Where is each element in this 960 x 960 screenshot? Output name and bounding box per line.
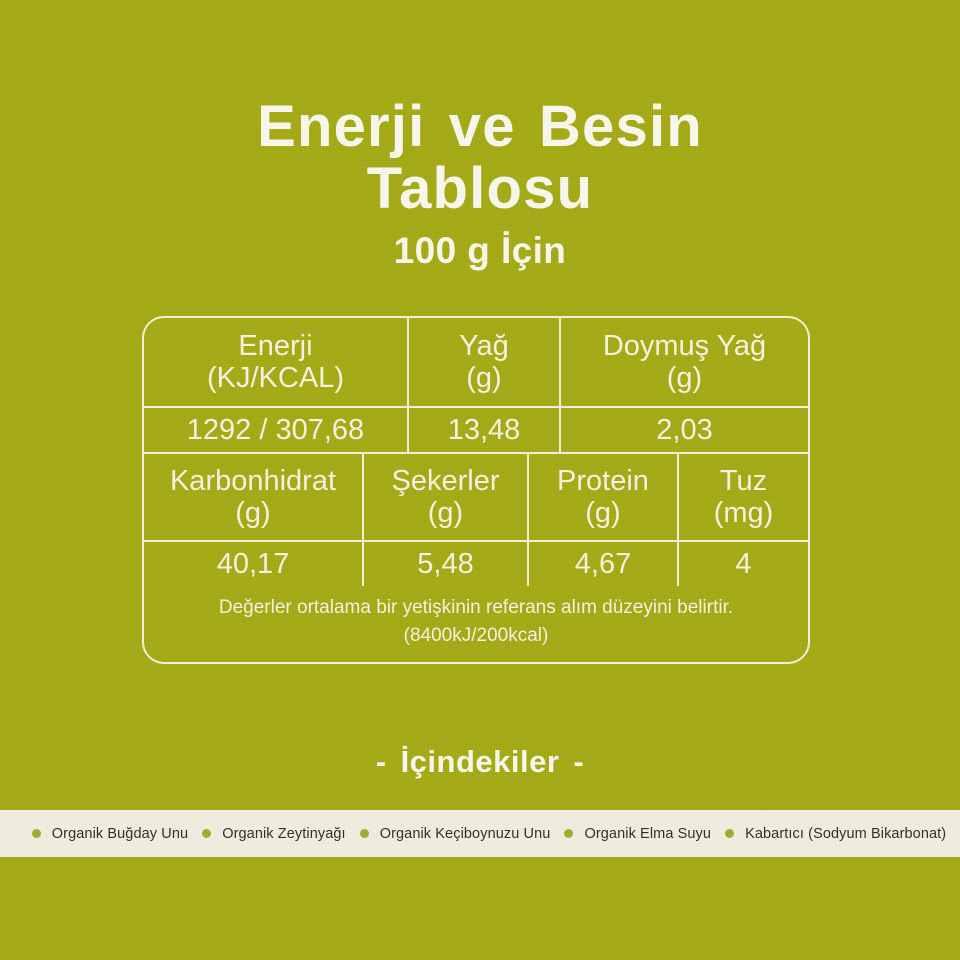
dash-right-icon: -: [559, 744, 598, 780]
title-line-2: Tablosu: [0, 158, 960, 220]
bullet-dot-icon: [564, 829, 573, 838]
header-cell-fat: Yağ (g): [407, 318, 559, 406]
serving-size-subtitle: 100 g İçin: [0, 230, 960, 272]
bullet-dot-icon: [32, 829, 41, 838]
bullet-dot-icon: [202, 829, 211, 838]
header-label: Doymuş Yağ: [603, 330, 766, 362]
value-text: 13,48: [448, 416, 521, 445]
ingredient-item: Organik Elma Suyu: [550, 826, 711, 842]
bullet-dot-icon: [725, 829, 734, 838]
header-label: Protein: [557, 465, 649, 497]
note-line-2: (8400kJ/200kcal): [404, 622, 549, 650]
ingredients-heading-label: İçindekiler: [401, 744, 560, 779]
value-cell-energy: 1292 / 307,68: [144, 408, 407, 452]
reference-intake-note: Değerler ortalama bir yetişkinin referan…: [144, 586, 808, 658]
header-unit: (g): [235, 497, 270, 529]
header-label: Şekerler: [392, 465, 500, 497]
header-label: Enerji: [238, 330, 312, 362]
bullet-dot-icon: [360, 829, 369, 838]
value-cell-fat: 13,48: [407, 408, 559, 452]
ingredient-label: Organik Keçiboynuzu Unu: [380, 826, 551, 842]
value-text: 40,17: [217, 550, 290, 579]
ingredients-heading: -İçindekiler-: [0, 744, 960, 780]
ingredient-label: Organik Zeytinyağı: [222, 826, 346, 842]
note-line-1: Değerler ortalama bir yetişkinin referan…: [219, 594, 733, 622]
table-header-row-1: Enerji (KJ/KCAL) Yağ (g) Doymuş Yağ (g): [144, 318, 808, 406]
value-cell-protein: 4,67: [527, 542, 677, 586]
header-unit: (g): [466, 362, 501, 394]
ingredients-strip: Organik Buğday Unu Organik Zeytinyağı Or…: [0, 810, 960, 857]
header-cell-carbohydrate: Karbonhidrat (g): [144, 454, 362, 540]
header-cell-saturated-fat: Doymuş Yağ (g): [559, 318, 808, 406]
table-value-row-2: 40,17 5,48 4,67 4: [144, 540, 808, 586]
header-unit: (mg): [714, 497, 774, 529]
table-value-row-1: 1292 / 307,68 13,48 2,03: [144, 406, 808, 452]
table-header-row-2: Karbonhidrat (g) Şekerler (g) Protein (g…: [144, 452, 808, 540]
value-text: 4: [735, 550, 751, 579]
value-text: 2,03: [656, 416, 712, 445]
header-cell-protein: Protein (g): [527, 454, 677, 540]
value-text: 1292 / 307,68: [187, 416, 364, 445]
ingredient-item: Organik Keçiboynuzu Unu: [346, 826, 551, 842]
ingredient-item: Organik Buğday Unu: [14, 826, 188, 842]
header-cell-sugars: Şekerler (g): [362, 454, 527, 540]
value-cell-salt: 4: [677, 542, 808, 586]
header-unit: (g): [585, 497, 620, 529]
header-unit: (g): [428, 497, 463, 529]
header-label: Tuz: [720, 465, 767, 497]
header-cell-energy: Enerji (KJ/KCAL): [144, 318, 407, 406]
ingredient-label: Kabartıcı (Sodyum Bikarbonat): [745, 826, 946, 842]
header-unit: (g): [667, 362, 702, 394]
dash-left-icon: -: [362, 744, 401, 780]
value-cell-carbohydrate: 40,17: [144, 542, 362, 586]
ingredient-item: Kabartıcı (Sodyum Bikarbonat): [711, 826, 946, 842]
value-cell-saturated-fat: 2,03: [559, 408, 808, 452]
header-cell-salt: Tuz (mg): [677, 454, 808, 540]
header-unit: (KJ/KCAL): [207, 362, 344, 394]
nutrition-table: Enerji (KJ/KCAL) Yağ (g) Doymuş Yağ (g) …: [142, 316, 810, 664]
ingredient-label: Organik Elma Suyu: [584, 826, 711, 842]
header-label: Karbonhidrat: [170, 465, 336, 497]
header-label: Yağ: [459, 330, 508, 362]
value-cell-sugars: 5,48: [362, 542, 527, 586]
ingredient-item: Organik Zeytinyağı: [188, 826, 346, 842]
title-line-1: Enerji ve Besin: [0, 96, 960, 158]
ingredient-label: Organik Buğday Unu: [52, 826, 188, 842]
value-text: 4,67: [575, 550, 631, 579]
page-title: Enerji ve Besin Tablosu 100 g İçin: [0, 96, 960, 272]
value-text: 5,48: [417, 550, 473, 579]
